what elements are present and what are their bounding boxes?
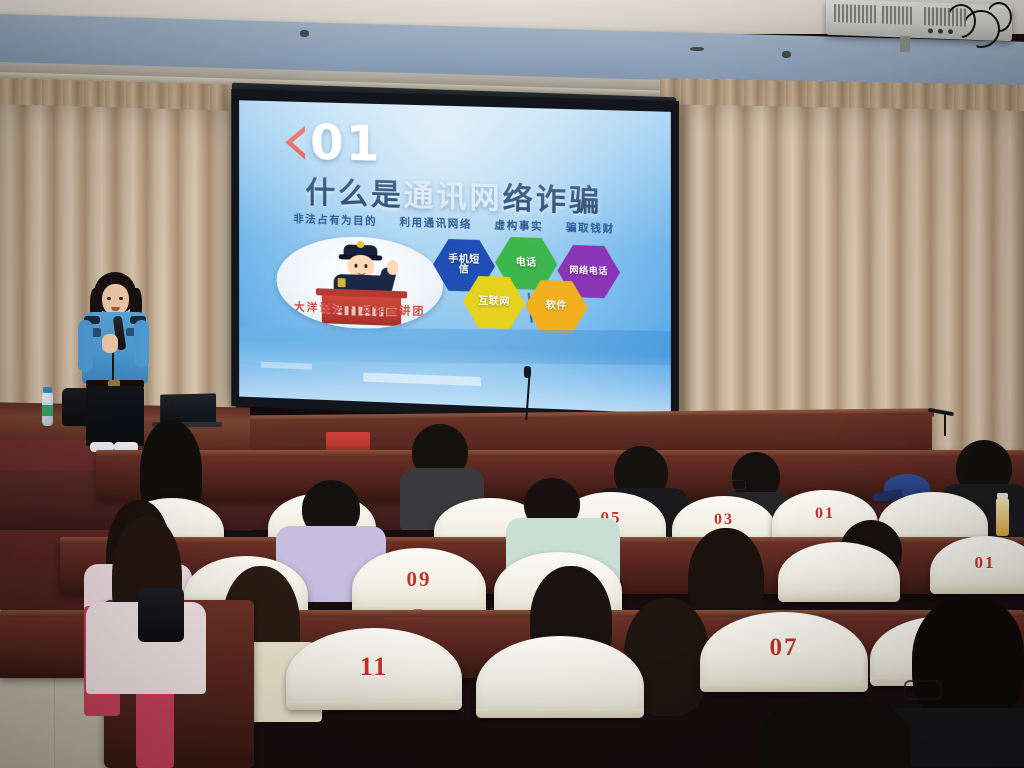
ceiling-vent-icon (690, 47, 704, 51)
projector-vent-icon (882, 6, 912, 25)
ceiling-speaker-icon (782, 51, 791, 58)
ceiling-speaker-icon (300, 30, 309, 37)
presenter-hand (102, 334, 118, 353)
bench-rail (96, 450, 1024, 457)
seat-number: 03 (672, 511, 776, 529)
hex-label: 电话 (516, 258, 537, 269)
projector-port-icon (938, 29, 943, 34)
curtain-right (660, 78, 1024, 457)
presenter-police-officer (72, 272, 156, 457)
seat-number: 09 (352, 567, 486, 592)
water-bottle-on-desk (42, 392, 53, 426)
seat-skirt (778, 593, 900, 602)
projector-port-icon (928, 28, 933, 33)
slide-title-part-2: 通讯网 (404, 180, 503, 216)
subtitle-item: 利用通讯网络 (400, 216, 472, 230)
auditorium-scene: 01 什么是通讯网络诈骗 非法占有为目的 利用通讯网络 虚构事实 骗取钱财 (0, 0, 1024, 768)
slide-section-number: 01 (310, 114, 381, 173)
presenter-trousers (86, 386, 144, 446)
seat-number: 11 (286, 652, 462, 682)
projector-mount (900, 36, 910, 52)
projector-port-icon (948, 29, 953, 34)
projector-vent-icon (834, 4, 876, 23)
subtitle-item: 虚构事实 (495, 219, 544, 233)
seat-number: 07 (700, 634, 868, 662)
fraud-channel-hexagon-group: 手机短信 电话 网络电话 互联网 软件 (433, 231, 655, 331)
presenter-eye (107, 297, 111, 300)
head (912, 596, 1024, 726)
hex-label: 网络电话 (569, 266, 607, 277)
mascot-caption: 大洋说法 · 反诈宣讲团 (280, 298, 439, 320)
bottle-cap (997, 493, 1008, 499)
slide-surface: 01 什么是通讯网络诈骗 非法占有为目的 利用通讯网络 虚构事实 骗取钱财 (239, 100, 671, 413)
mascot-pointing-hand-icon (387, 260, 398, 275)
head (760, 700, 910, 768)
slide-title-part-1: 什么是 (306, 177, 404, 213)
glasses-icon (728, 480, 746, 490)
subtitle-item: 骗取钱财 (566, 222, 615, 236)
police-mascot-illustration: 大洋说法 · 反诈宣讲团 (276, 234, 443, 331)
seat-skirt (476, 709, 644, 718)
projection-screen: 01 什么是通讯网络诈骗 非法占有为目的 利用通讯网络 虚构事实 骗取钱财 (231, 89, 679, 424)
seat-skirt (700, 683, 868, 692)
podium-microphone-head-icon (524, 366, 531, 378)
slide-title-part-3: 络诈骗 (503, 182, 603, 218)
presenter-eye (119, 297, 123, 300)
seat-skirt (286, 701, 462, 710)
glasses-icon (904, 680, 942, 700)
presenter-mouth (111, 307, 120, 311)
mascot-eye (354, 264, 357, 268)
seat-skirt (930, 585, 1024, 594)
presenter-arm-right (134, 320, 149, 368)
handbag-on-seat (138, 588, 184, 642)
mascot-badge-icon (338, 278, 346, 287)
subtitle-item: 非法占有为目的 (293, 213, 377, 228)
podium-microphone-stem-right (944, 414, 946, 436)
bottle-cap (43, 387, 52, 393)
chevron-left-icon (285, 125, 305, 159)
juice-bottle (996, 498, 1009, 536)
hex-label: 软件 (546, 301, 567, 312)
seat-number: 01 (930, 553, 1024, 573)
bottle-label (42, 405, 53, 416)
hex-label: 手机短信 (447, 254, 481, 276)
presenter-arm-left (78, 320, 93, 372)
hex-label: 互联网 (478, 297, 510, 309)
mascot-podium-top (316, 288, 407, 298)
mascot-eye (364, 264, 367, 268)
